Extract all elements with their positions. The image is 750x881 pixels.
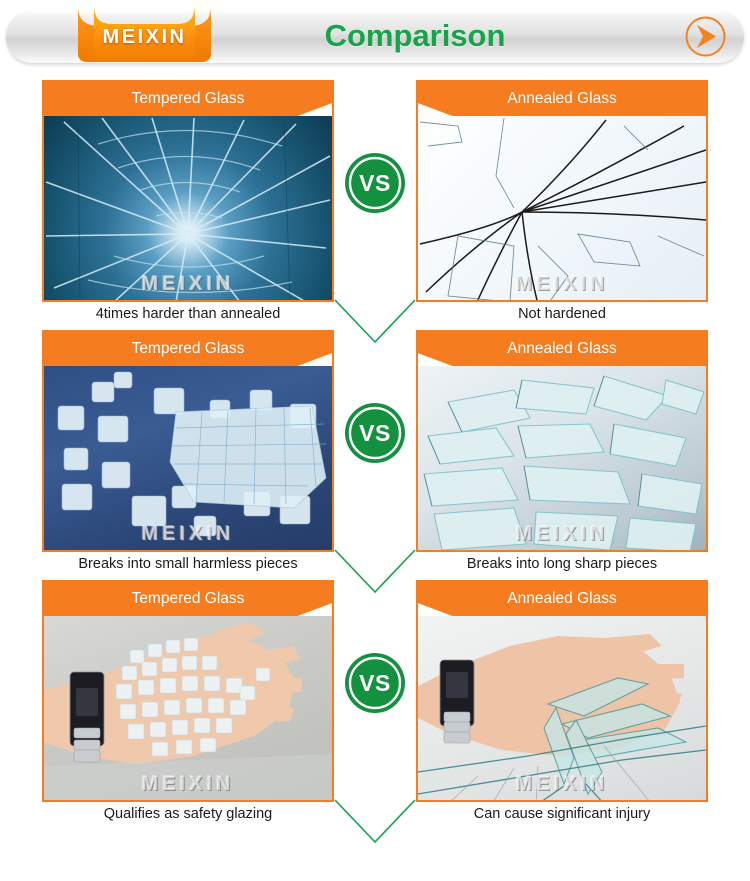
card-banner-label: Annealed Glass xyxy=(418,582,706,616)
comparison-caption: 4times harder than annealed xyxy=(42,304,334,324)
cube-pattern-icon xyxy=(44,366,332,552)
brand-label: MEIXIN xyxy=(72,4,217,66)
shattered-blue-glass-photo: MEIXIN xyxy=(44,116,332,302)
comparison-card-tempered[interactable]: Tempered Glass xyxy=(42,80,334,302)
comparison-caption: Breaks into small harmless pieces xyxy=(42,554,334,574)
comparison-card-annealed[interactable]: Annealed Glass xyxy=(416,580,708,802)
sharp-shards-photo: MEIXIN xyxy=(418,366,706,552)
comparison-card-annealed[interactable]: Annealed Glass xyxy=(416,80,708,302)
card-banner-label: Tempered Glass xyxy=(44,582,332,616)
comparison-card-annealed[interactable]: Annealed Glass xyxy=(416,330,708,552)
chevron-right-icon[interactable] xyxy=(683,14,728,59)
shard-pattern-icon xyxy=(418,366,706,552)
card-banner-label: Annealed Glass xyxy=(418,82,706,116)
hand-on-sharp-shards-photo: MEIXIN xyxy=(418,616,706,802)
comparison-card-tempered[interactable]: Tempered Glass xyxy=(42,330,334,552)
page-header: MEIXIN Comparison xyxy=(0,0,750,80)
vs-label: VS xyxy=(344,652,406,714)
crack-pattern-icon xyxy=(44,116,332,302)
hand-with-glass-cubes-photo: MEIXIN xyxy=(44,616,332,802)
row-connector-chevron xyxy=(333,298,417,344)
comparison-caption: Not hardened xyxy=(416,304,708,324)
card-banner-label: Tempered Glass xyxy=(44,82,332,116)
row-connector-chevron xyxy=(333,548,417,594)
comparison-row: Tempered Glass xyxy=(0,80,750,330)
page-title: Comparison xyxy=(200,16,630,56)
vs-badge: VS xyxy=(344,152,406,214)
card-banner-label: Tempered Glass xyxy=(44,332,332,366)
comparison-row: Tempered Glass xyxy=(0,330,750,580)
row-connector-chevron xyxy=(333,798,417,844)
vs-badge: VS xyxy=(344,652,406,714)
brand-badge: MEIXIN xyxy=(72,4,217,66)
hand-icon xyxy=(44,616,332,802)
comparison-rows: Tempered Glass xyxy=(0,80,750,830)
crack-pattern-icon xyxy=(418,116,706,302)
comparison-card-tempered[interactable]: Tempered Glass xyxy=(42,580,334,802)
glass-cubes-photo: MEIXIN xyxy=(44,366,332,552)
long-cracks-glass-photo: MEIXIN xyxy=(418,116,706,302)
hand-icon xyxy=(418,616,706,802)
card-banner-label: Annealed Glass xyxy=(418,332,706,366)
comparison-caption: Qualifies as safety glazing xyxy=(42,804,334,824)
comparison-caption: Can cause significant injury xyxy=(416,804,708,824)
comparison-caption: Breaks into long sharp pieces xyxy=(416,554,708,574)
vs-badge: VS xyxy=(344,402,406,464)
vs-label: VS xyxy=(344,152,406,214)
vs-label: VS xyxy=(344,402,406,464)
comparison-row: Tempered Glass xyxy=(0,580,750,830)
